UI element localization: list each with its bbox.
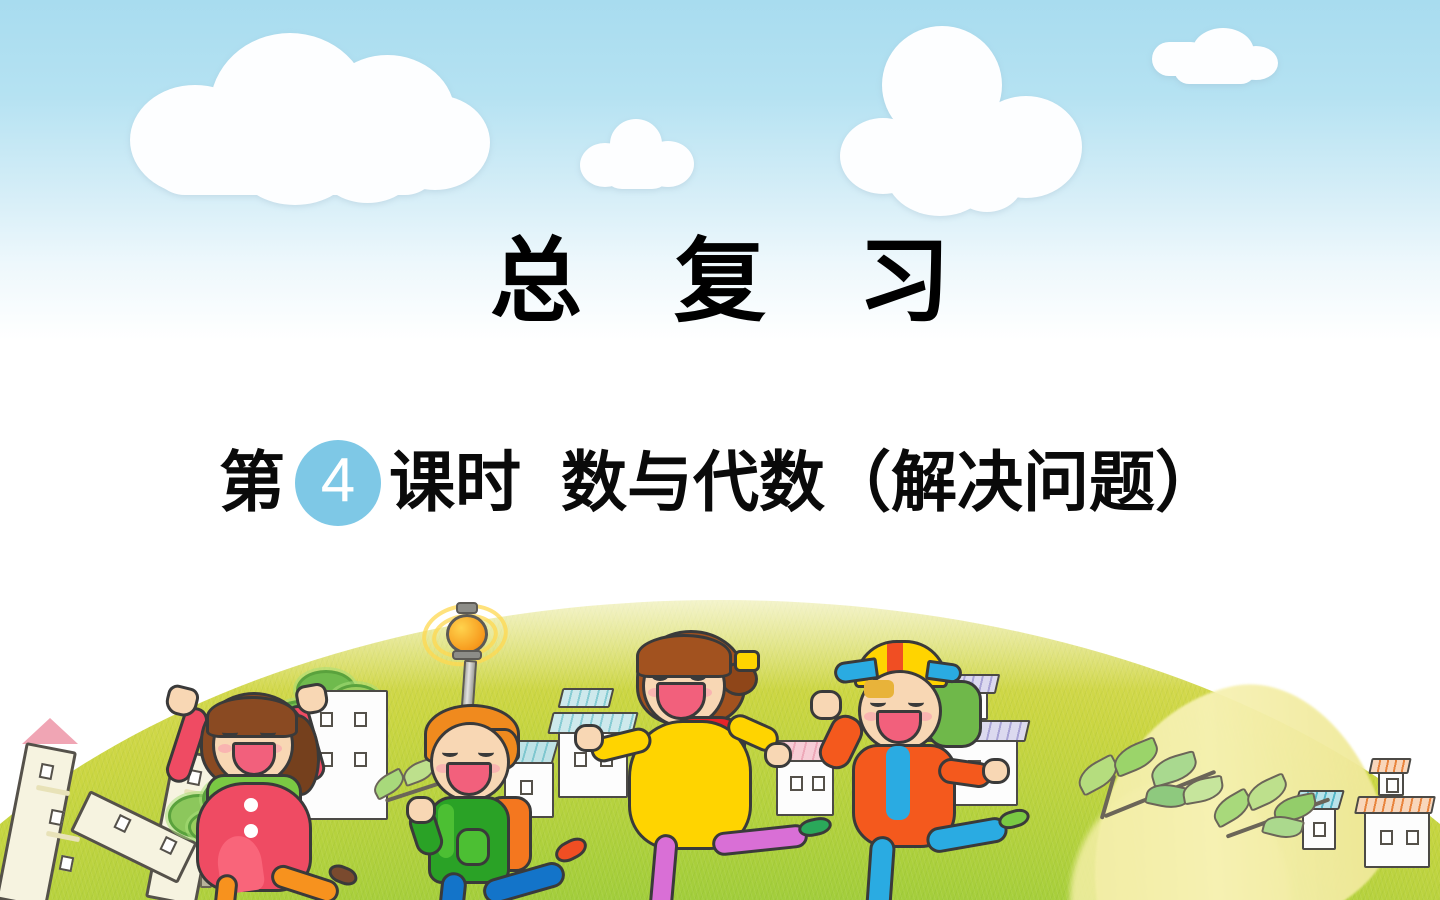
lesson-number-text: 4	[321, 450, 355, 512]
lesson-number-badge: 4	[295, 440, 381, 526]
girl-yellow-dress	[608, 620, 808, 870]
subtitle-topic: 数与代数（解决问题）	[561, 448, 1221, 517]
leaf-sprig-b	[1205, 772, 1375, 852]
girl-pink-dress	[160, 676, 380, 900]
subtitle-prefix: 第	[219, 448, 285, 517]
slide-canvas: 总 复 习 第 4 课时 数与代数（解决问题）	[0, 0, 1440, 900]
cloud-small-far-right	[1152, 28, 1282, 88]
cloud-small-center	[580, 115, 700, 190]
subtitle: 第 4 课时 数与代数（解决问题）	[0, 440, 1440, 526]
boy-orange-leg-left	[862, 835, 897, 900]
boy-orange-shirt-cap	[830, 638, 1030, 888]
cloud-medium-right	[830, 18, 1090, 213]
cloud-large-left	[90, 15, 500, 195]
page-title: 总 复 习	[0, 236, 1440, 328]
subtitle-middle: 课时	[389, 448, 521, 517]
girl-yellow-hair-bow	[734, 650, 760, 672]
